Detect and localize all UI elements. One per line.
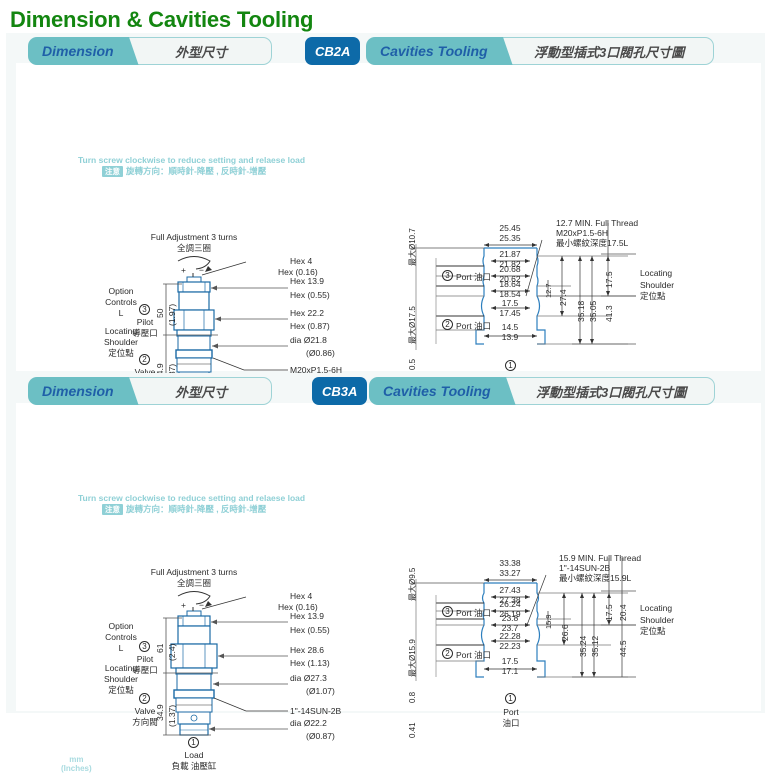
cb3a-code-badge: CB3A [312, 377, 367, 405]
cb3a-cav-w1-lo: 33.27 [499, 568, 520, 578]
cb3a-option-label-3: L [119, 643, 124, 653]
cb3a-port2-circle: 2 [139, 693, 150, 704]
cb3a-tab-cavities-en[interactable]: Cavities Tooling [369, 377, 505, 405]
cb3a-depth-159: 15.9 [544, 614, 554, 629]
cb3a-thread-note-1: 15.9 MIN. Full Thread [559, 553, 641, 563]
cb2a-cav-tol1: 0.5 [408, 359, 418, 370]
cb2a-depth-3518: 35.18 [576, 301, 586, 322]
cb3a-dimension-drawing: Full Adjustment 3 turns 全調三圈 [66, 553, 366, 773]
cb3a-cav-locating-cn: 定位點 [640, 626, 666, 636]
cb3a-cav-maxdia1: 最大Ø9.5 [408, 568, 418, 601]
cb2a-cav-w4-hi: 18.64 [499, 279, 520, 289]
cb2a-callout-hex222-in: Hex (0.87) [290, 321, 330, 331]
cb3a-cav-port1-en: Port [503, 707, 519, 717]
cb2a-port3-en: Pilot [137, 317, 154, 327]
cb3a-tab-dimension-en[interactable]: Dimension [28, 377, 128, 405]
cb3a-dim-b-in: (1.37) [167, 705, 177, 727]
cb2a-tabbar: Dimension 外型尺寸 CB2A Cavities Tooling 浮動型… [6, 33, 765, 67]
cb2a-port3-cn: 導壓口 [132, 328, 158, 338]
cb2a-thread-note-3: 最小螺紋深度17.5L [556, 238, 628, 248]
cb3a-cav-maxdia2: 最大Ø15.9 [408, 639, 418, 677]
cb3a-depth-266: 26.6 [560, 624, 570, 641]
cb3a-port1-en: Load [185, 750, 204, 760]
cb3a-locating-shoulder-cn: 定位點 [108, 685, 134, 695]
cb2a-depth-175: 17.5 [604, 271, 614, 288]
cb2a-tab-cavities-cn[interactable]: 浮動型插式3口閥孔尺寸圖 [500, 37, 714, 65]
cb2a-thread-note-1: 12.7 MIN. Full Thread [556, 218, 638, 228]
cb3a-cav-locating-en2: Shoulder [640, 615, 674, 625]
cb3a-cav-w5-hi: 22.28 [499, 631, 520, 641]
cb2a-port3-circle: 3 [139, 304, 150, 315]
cb3a-cav-w6-lo: 17.1 [502, 666, 519, 676]
cb2a-tab-dimension-en[interactable]: Dimension [28, 37, 128, 65]
cb3a-port2-cn: 方向閥 [132, 717, 158, 727]
cb3a-port3-en: Pilot [137, 654, 154, 664]
cb3a-depth-204: 20.4 [618, 604, 628, 621]
cb3a-dimension-tab-group[interactable]: Dimension 外型尺寸 [28, 377, 272, 405]
cb3a-plus-sign: + [181, 600, 186, 610]
cb3a-tabbar: Dimension 外型尺寸 CB3A Cavities Tooling 浮動型… [6, 373, 765, 407]
cb3a-cav-port1-cn: 油口 [502, 718, 519, 728]
cb3a-tab-dimension-cn[interactable]: 外型尺寸 [126, 377, 272, 405]
cb3a-cav-locating-en1: Locating [640, 603, 672, 613]
cb2a-plus-sign: + [181, 265, 186, 275]
cb2a-thread-note-2: M20xP1.5-6H [556, 228, 608, 238]
cb2a-note: Turn screw clockwise to reduce setting a… [78, 155, 305, 177]
cb3a-units-inches: (Inches) [61, 764, 92, 773]
cb3a-cav-w2-hi: 27.43 [499, 585, 520, 595]
cb2a-cav-w3-hi: 20.68 [499, 264, 520, 274]
cb3a-option-label-1: Option [108, 621, 133, 631]
cb2a-cav-locating-cn: 定位點 [640, 291, 666, 301]
cb2a-depth-413: 41.3 [604, 305, 614, 322]
cb3a-depth-3512: 35.12 [590, 636, 600, 657]
cb2a-code-badge: CB2A [305, 37, 360, 65]
cb2a-cav-w5-hi: 17.5 [502, 298, 519, 308]
cb3a-minus-sign: − [199, 600, 204, 610]
cb2a-cav-port3-text: Port 油口 [456, 272, 491, 282]
cb3a-cav-port3-circle: 3 [442, 606, 453, 617]
cb3a-callout-hex286-in: Hex (1.13) [290, 658, 330, 668]
cb2a-cav-w6-lo: 13.9 [502, 332, 519, 342]
cb3a-port1-cn: 負載 油壓缸 [172, 761, 217, 771]
cb2a-option-label-1: Option [108, 286, 133, 296]
section-cb3a: Dimension 外型尺寸 CB3A Cavities Tooling 浮動型… [6, 373, 765, 713]
cb2a-tab-cavities-en[interactable]: Cavities Tooling [366, 37, 502, 65]
cb3a-cav-w4-hi: 23.8 [502, 613, 519, 623]
cb3a-cav-w3-hi: 26.24 [499, 599, 520, 609]
cb2a-depth-3505: 35.05 [588, 301, 598, 322]
cb3a-note-badge: 注意 [102, 504, 123, 515]
cb2a-minus-sign: − [199, 265, 204, 275]
cb2a-dim-a-in: (1.97) [167, 304, 177, 326]
cb3a-port3-cn: 導壓口 [132, 665, 158, 675]
cb3a-cav-w1-hi: 33.38 [499, 558, 520, 568]
cb2a-depth-274: 27.4 [558, 289, 568, 306]
cb2a-cav-maxdia2: 最大Ø17.5 [408, 306, 418, 344]
cb3a-cav-port2-text: Port 油口 [456, 650, 491, 660]
cb2a-callout-dia218: dia Ø21.8 [290, 335, 327, 345]
cb3a-thread-note-3: 最小螺紋深度15.9L [559, 573, 631, 583]
cb3a-cav-w6-hi: 17.5 [502, 656, 519, 666]
cb3a-note: Turn screw clockwise to reduce setting a… [78, 493, 305, 515]
cb3a-tab-cavities-cn[interactable]: 浮動型插式3口閥孔尺寸圖 [503, 377, 715, 405]
cb2a-cav-locating-en1: Locating [640, 268, 672, 278]
cb3a-callout-hex286: Hex 28.6 [290, 645, 324, 655]
cb2a-cav-port3-circle: 3 [442, 270, 453, 281]
cb2a-cav-w5-lo: 17.45 [499, 308, 520, 318]
cb3a-dim-a-in: (2.4) [167, 644, 177, 661]
cb3a-callout-thread: 1"-14SUN-2B [290, 706, 341, 716]
cb2a-depth-127: 12.7 [544, 283, 554, 298]
cb2a-cavities-tab-group[interactable]: Cavities Tooling 浮動型插式3口閥孔尺寸圖 [366, 37, 714, 65]
cb2a-cav-w2-hi: 21.87 [499, 249, 520, 259]
cb2a-cav-locating-en2: Shoulder [640, 280, 674, 290]
cb2a-cav-port1-circle: 1 [505, 360, 516, 371]
cb3a-cav-port3-text: Port 油口 [456, 608, 491, 618]
cb2a-dimension-tab-group[interactable]: Dimension 外型尺寸 [28, 37, 272, 65]
cb3a-depth-175: 17.5 [604, 604, 614, 621]
cb3a-port3-circle: 3 [139, 641, 150, 652]
cb3a-thread-note-2: 1"-14SUN-2B [559, 563, 610, 573]
cb3a-callout-hex4: Hex 4 [290, 591, 312, 601]
cb3a-cav-tol2: 0.41 [408, 722, 418, 738]
cb3a-port2-en: Valve [135, 706, 156, 716]
cb2a-tab-dimension-cn[interactable]: 外型尺寸 [126, 37, 272, 65]
cb2a-note-en: Turn screw clockwise to reduce setting a… [78, 155, 305, 166]
cb2a-dim-a-mm: 50 [155, 309, 165, 318]
cb3a-cav-port2-circle: 2 [442, 648, 453, 659]
cb2a-option-label-2: Controls [105, 297, 137, 307]
cb3a-callout-dia273-in: (Ø1.07) [306, 686, 335, 696]
cb3a-depth-445: 44.5 [618, 640, 628, 657]
cb3a-callout-hex139-in: Hex (0.55) [290, 625, 330, 635]
cb3a-note-en: Turn screw clockwise to reduce setting a… [78, 493, 305, 504]
cb3a-depth-3524: 35.24 [578, 636, 588, 657]
cb2a-cav-maxdia1: 最大Ø10.7 [408, 228, 418, 266]
cb3a-dim-a-mm: 61 [155, 644, 165, 653]
cb3a-callout-dia222: dia Ø22.2 [290, 718, 327, 728]
cb2a-callout-hex4: Hex 4 [290, 256, 312, 266]
cb3a-callout-dia222-in: (Ø0.87) [306, 731, 335, 741]
cb2a-port2-circle: 2 [139, 354, 150, 365]
cb2a-option-label-3: L [119, 308, 124, 318]
cb2a-note-badge: 注意 [102, 166, 123, 177]
cb2a-cav-w1-lo: 25.35 [499, 233, 520, 243]
cb3a-units-mm: mm [61, 755, 92, 764]
cb3a-cavities-tab-group[interactable]: Cavities Tooling 浮動型插式3口閥孔尺寸圖 [369, 377, 715, 405]
cb2a-cav-w6-hi: 14.5 [502, 322, 519, 332]
cb3a-callout-hex139: Hex 13.9 [290, 611, 324, 621]
cb2a-callout-dia218-in: (Ø0.86) [306, 348, 335, 358]
cb3a-units-note: mm (Inches) [61, 755, 92, 773]
cb2a-locating-shoulder-en2: Shoulder [104, 337, 138, 347]
cb2a-cav-w1-hi: 25.45 [499, 223, 520, 233]
cb2a-note-cn: 旋轉方向：順時針-降壓 , 反時針-增壓 [126, 166, 266, 177]
cb3a-option-label-2: Controls [105, 632, 137, 642]
page-title: Dimension & Cavities Tooling [0, 0, 771, 33]
section-cb2a: Dimension 外型尺寸 CB2A Cavities Tooling 浮動型… [6, 33, 765, 373]
cb2a-callout-hex222: Hex 22.2 [290, 308, 324, 318]
cb2a-cav-port2-circle: 2 [442, 319, 453, 330]
cb2a-callout-hex139: Hex 13.9 [290, 276, 324, 286]
cb2a-callout-hex139-in: Hex (0.55) [290, 290, 330, 300]
cb2a-locating-shoulder-cn: 定位點 [108, 348, 134, 358]
cb3a-callout-dia273: dia Ø27.3 [290, 673, 327, 683]
cb3a-locating-shoulder-en2: Shoulder [104, 674, 138, 684]
cb3a-port1-circle: 1 [188, 737, 199, 748]
cb2a-cav-port2-text: Port 油口 [456, 321, 491, 331]
cb3a-cav-tol1: 0.8 [408, 692, 418, 703]
cb3a-cavity-svg [396, 553, 771, 773]
cb3a-cav-w5-lo: 22.23 [499, 641, 520, 651]
cb3a-note-cn: 旋轉方向：順時針-降壓 , 反時針-增壓 [126, 504, 266, 515]
cb3a-cav-port1-circle: 1 [505, 693, 516, 704]
cb3a-cavity-drawing: 最大Ø9.5 最大Ø15.9 0.8 0.41 3 Port 油口 2 Port… [396, 553, 771, 773]
